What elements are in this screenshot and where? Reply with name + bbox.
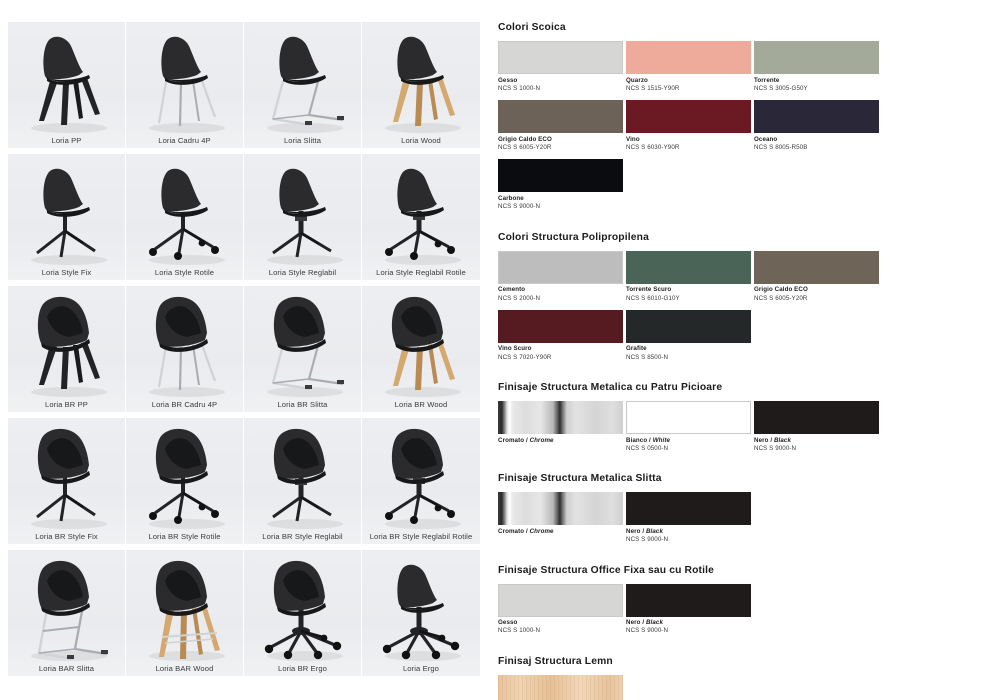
chair-variant-card[interactable]: Loria BAR Wood (126, 550, 244, 676)
color-chip[interactable] (498, 251, 623, 284)
swatch[interactable]: Torrente ScuroNCS S 6010-G10Y (626, 251, 751, 303)
swatch-code: NCS S 8005-R50B (754, 144, 879, 152)
swatch-name: Vino (626, 136, 751, 144)
chair-variant-card[interactable]: Loria BR Style Reglabil Rotile (362, 418, 480, 544)
swatch[interactable]: Grigio Caldo ECONCS S 6005-Y20R (754, 251, 879, 303)
section-wood-finish: Finisaj Structura Lemn Faggio / Beech (498, 656, 1000, 700)
color-chip[interactable] (626, 251, 751, 284)
section-office-base: Finisaje Structura Office Fixa sau cu Ro… (498, 565, 1000, 643)
section-title: Finisaje Structura Office Fixa sau cu Ro… (498, 565, 1000, 576)
swatch-code: NCS S 9000-N (626, 627, 751, 635)
chair-illustration (8, 420, 125, 528)
swatch-grid-office-base: GessoNCS S 1000-NNero / BlackNCS S 9000-… (498, 584, 1000, 643)
chair-variant-label: Loria BR Style Reglabil Rotile (370, 532, 473, 541)
section-colori-scoica: Colori Scoica GessoNCS S 1000-NQuarzoNCS… (498, 22, 1000, 219)
chair-variant-card[interactable]: Loria BR Style Reglabil (244, 418, 362, 544)
chair-illustration (8, 24, 125, 132)
swatch-name: Nero / Black (626, 528, 751, 536)
swatch-code: NCS S 6030-Y90R (626, 144, 751, 152)
chair-variant-label: Loria PP (52, 136, 82, 145)
swatch[interactable]: Grigio Caldo ECONCS S 6005-Y20R (498, 100, 623, 152)
swatch[interactable]: Nero / BlackNCS S 9000-N (626, 584, 751, 636)
chair-variant-card[interactable]: Loria BR Style Rotile (126, 418, 244, 544)
chair-variant-card[interactable]: Loria BR PP (8, 286, 126, 412)
chair-illustration (362, 288, 480, 396)
swatch-code: NCS S 2000-N (498, 295, 623, 303)
color-chip[interactable] (498, 401, 623, 434)
color-chip[interactable] (754, 251, 879, 284)
swatch-name: Grigio Caldo ECO (754, 286, 879, 294)
swatch-grid-wood: Faggio / Beech (498, 675, 1000, 700)
color-chip[interactable] (626, 310, 751, 343)
specifications-column: Colori Scoica GessoNCS S 1000-NQuarzoNCS… (498, 22, 1000, 692)
chair-illustration (244, 552, 361, 660)
chair-illustration (126, 552, 243, 660)
swatch-code: NCS S 9000-N (498, 203, 623, 211)
swatch[interactable]: GessoNCS S 1000-N (498, 41, 623, 93)
swatch-grid-scocca: GessoNCS S 1000-NQuarzoNCS S 1515-Y90RTo… (498, 41, 1000, 219)
chair-illustration (362, 420, 480, 528)
swatch-grid-polipropilena: CementoNCS S 2000-NTorrente ScuroNCS S 6… (498, 251, 1000, 369)
chair-illustration (244, 24, 361, 132)
swatch-name: Quarzo (626, 77, 751, 85)
chair-variant-label: Loria BAR Slitta (39, 664, 94, 673)
chair-illustration (126, 24, 243, 132)
swatch-code: NCS S 7020-Y90R (498, 354, 623, 362)
chair-variant-card[interactable]: Loria Style Rotile (126, 154, 244, 280)
chair-variant-card[interactable]: Loria Wood (362, 22, 480, 148)
swatch[interactable]: CarboneNCS S 9000-N (498, 159, 623, 211)
swatch[interactable]: Nero / BlackNCS S 9000-N (754, 401, 879, 453)
color-chip[interactable] (498, 41, 623, 74)
chair-variant-label: Loria Style Reglabil (269, 268, 336, 277)
chair-variant-label: Loria BR Ergo (278, 664, 327, 673)
chair-variant-label: Loria Style Fix (42, 268, 92, 277)
swatch-code: NCS S 3005-G50Y (754, 85, 879, 93)
chair-variant-label: Loria Style Rotile (155, 268, 214, 277)
swatch-name: Grafite (626, 345, 751, 353)
color-chip[interactable] (498, 675, 623, 700)
color-chip[interactable] (754, 401, 879, 434)
chair-variant-label: Loria BR Slitta (277, 400, 327, 409)
chair-variant-label: Loria BAR Wood (156, 664, 214, 673)
section-title: Colori Scoica (498, 22, 1000, 33)
section-title: Finisaje Structura Metalica cu Patru Pic… (498, 382, 1000, 393)
color-chip[interactable] (498, 492, 623, 525)
color-chip[interactable] (754, 100, 879, 133)
swatch-name: Grigio Caldo ECO (498, 136, 623, 144)
chair-variant-label: Loria BR Style Fix (35, 532, 98, 541)
swatch-code: NCS S 6005-Y20R (754, 295, 879, 303)
swatch[interactable]: QuarzoNCS S 1515-Y90R (626, 41, 751, 93)
chair-variant-card[interactable]: Loria BR Cadru 4P (126, 286, 244, 412)
chair-variant-label: Loria BR Style Reglabil (262, 532, 342, 541)
swatch[interactable]: GrafiteNCS S 8500-N (626, 310, 751, 362)
color-chip[interactable] (498, 310, 623, 343)
swatch-name: Cromato / Chrome (498, 528, 623, 536)
swatch-code: NCS S 9000-N (626, 536, 751, 544)
chair-illustration (362, 24, 480, 132)
swatch-name: Cromato / Chrome (498, 437, 623, 445)
swatch[interactable]: Vino ScuroNCS S 7020-Y90R (498, 310, 623, 362)
swatch-code: NCS S 9000-N (754, 445, 879, 453)
swatch-name: Gesso (498, 619, 623, 627)
swatch-name: Torrente (754, 77, 879, 85)
swatch[interactable]: Bianco / WhiteNCS S 0500-N (626, 401, 751, 453)
chair-variant-label: Loria Cadru 4P (158, 136, 210, 145)
swatch-name: Cemento (498, 286, 623, 294)
swatch-grid-metal-sled: Cromato / ChromeNero / BlackNCS S 9000-N (498, 492, 1000, 551)
color-chip[interactable] (498, 159, 623, 192)
swatch-name: Carbone (498, 195, 623, 203)
chair-illustration (8, 156, 125, 264)
swatch[interactable]: Cromato / Chrome (498, 401, 623, 453)
color-chip[interactable] (626, 584, 751, 617)
chair-variant-label: Loria Wood (401, 136, 441, 145)
chair-variant-label: Loria Slitta (284, 136, 321, 145)
chair-variant-card[interactable]: Loria Slitta (244, 22, 362, 148)
chair-illustration (8, 552, 125, 660)
swatch[interactable]: TorrenteNCS S 3005-G50Y (754, 41, 879, 93)
swatch-code: NCS S 1000-N (498, 627, 623, 635)
chair-variant-card[interactable]: Loria Style Reglabil Rotile (362, 154, 480, 280)
chair-variant-card[interactable]: Loria BAR Slitta (8, 550, 126, 676)
swatch-name: Torrente Scuro (626, 286, 751, 294)
chair-variant-label: Loria Ergo (403, 664, 439, 673)
chair-variant-card[interactable]: Loria Style Reglabil (244, 154, 362, 280)
chair-variant-card[interactable]: Loria PP (8, 22, 126, 148)
swatch-code: NCS S 0500-N (626, 445, 751, 453)
color-chip[interactable] (498, 584, 623, 617)
color-chip[interactable] (626, 492, 751, 525)
swatch[interactable]: VinoNCS S 6030-Y90R (626, 100, 751, 152)
chair-variant-label: Loria BR Wood (395, 400, 448, 409)
chair-illustration (126, 420, 243, 528)
section-title: Finisaje Structura Metalica Slitta (498, 473, 1000, 484)
swatch[interactable]: CementoNCS S 2000-N (498, 251, 623, 303)
swatch-name: Bianco / White (626, 437, 751, 445)
swatch-name: Vino Scuro (498, 345, 623, 353)
chair-variant-label: Loria Style Reglabil Rotile (376, 268, 466, 277)
gallery-row: Loria Style Fix Loria Style Rotile (8, 154, 480, 280)
gallery-row: Loria PP Loria Cadru 4P (8, 22, 480, 148)
section-title: Finisaj Structura Lemn (498, 656, 1000, 667)
swatch[interactable]: Cromato / Chrome (498, 492, 623, 544)
swatch-name: Nero / Black (626, 619, 751, 627)
chair-variant-card[interactable]: Loria BR Wood (362, 286, 480, 412)
chair-variant-card[interactable]: Loria Cadru 4P (126, 22, 244, 148)
chair-variant-card[interactable]: Loria Ergo (362, 550, 480, 676)
section-title: Colori Structura Polipropilena (498, 232, 1000, 243)
swatch-code: NCS S 6010-G10Y (626, 295, 751, 303)
chair-illustration (126, 288, 243, 396)
section-metal-four-legs: Finisaje Structura Metalica cu Patru Pic… (498, 382, 1000, 460)
chair-variant-card[interactable]: Loria BR Slitta (244, 286, 362, 412)
swatch-name: Nero / Black (754, 437, 879, 445)
color-chip[interactable] (754, 41, 879, 74)
swatch-name: Oceano (754, 136, 879, 144)
chair-illustration (244, 156, 361, 264)
section-colori-polipropilena: Colori Structura Polipropilena CementoNC… (498, 232, 1000, 369)
chair-illustration (244, 420, 361, 528)
color-chip[interactable] (626, 100, 751, 133)
chair-variant-label: Loria BR PP (45, 400, 88, 409)
chair-variant-card[interactable]: Loria BR Ergo (244, 550, 362, 676)
color-chip[interactable] (498, 100, 623, 133)
swatch-code: NCS S 8500-N (626, 354, 751, 362)
swatch-name: Gesso (498, 77, 623, 85)
chair-illustration (244, 288, 361, 396)
swatch-code: NCS S 1000-N (498, 85, 623, 93)
swatch-code: NCS S 6005-Y20R (498, 144, 623, 152)
chair-illustration (8, 288, 125, 396)
swatch-grid-metal-four-legs: Cromato / ChromeBianco / WhiteNCS S 0500… (498, 401, 1000, 460)
swatch[interactable]: GessoNCS S 1000-N (498, 584, 623, 636)
swatch[interactable]: OceanoNCS S 8005-R50B (754, 100, 879, 152)
chair-variant-label: Loria BR Style Rotile (148, 532, 220, 541)
chair-variant-card[interactable]: Loria BR Style Fix (8, 418, 126, 544)
catalog-page: Loria PP Loria Cadru 4P (0, 0, 1000, 700)
gallery-row: Loria BR PP Loria BR Cadru 4P (8, 286, 480, 412)
gallery-row: Loria BAR Slitta Loria BAR Wood (8, 550, 480, 676)
swatch[interactable]: Nero / BlackNCS S 9000-N (626, 492, 751, 544)
chair-illustration (362, 156, 480, 264)
color-chip[interactable] (626, 401, 751, 434)
swatch-code: NCS S 1515-Y90R (626, 85, 751, 93)
chair-illustration (126, 156, 243, 264)
chair-illustration (362, 552, 480, 660)
chair-variant-label: Loria BR Cadru 4P (152, 400, 217, 409)
chair-gallery: Loria PP Loria Cadru 4P (8, 22, 480, 682)
section-metal-sled: Finisaje Structura Metalica Slitta Croma… (498, 473, 1000, 551)
color-chip[interactable] (626, 41, 751, 74)
gallery-row: Loria BR Style Fix Loria BR Style Rotile (8, 418, 480, 544)
chair-variant-card[interactable]: Loria Style Fix (8, 154, 126, 280)
swatch[interactable]: Faggio / Beech (498, 675, 623, 700)
